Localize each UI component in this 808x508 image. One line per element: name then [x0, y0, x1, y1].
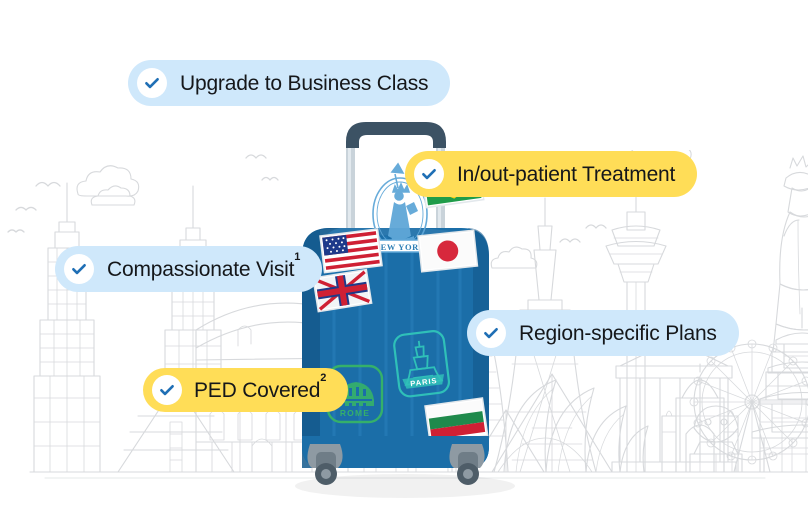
- badge-label-text: PED Covered: [194, 379, 320, 402]
- illustration-canvas: NEW YORK: [0, 0, 808, 508]
- svg-text:ROME: ROME: [340, 408, 370, 418]
- check-circle-icon: [64, 254, 94, 284]
- badge-label: Region-specific Plans: [519, 323, 717, 344]
- badge-label: PED Covered2: [194, 380, 326, 401]
- badge-compassionate-visit[interactable]: Compassionate Visit1: [55, 246, 322, 292]
- badge-label: In/out-patient Treatment: [457, 164, 675, 185]
- badge-label: Compassionate Visit1: [107, 259, 300, 280]
- badge-label-text: Compassionate Visit: [107, 258, 294, 281]
- badge-upgrade-to-business-class[interactable]: Upgrade to Business Class: [128, 60, 450, 106]
- check-circle-icon: [137, 68, 167, 98]
- badge-ped-covered[interactable]: PED Covered2: [143, 368, 348, 412]
- badge-region-specific-plans[interactable]: Region-specific Plans: [467, 310, 739, 356]
- check-circle-icon: [152, 375, 182, 405]
- badge-in-out-patient-treatment[interactable]: In/out-patient Treatment: [405, 151, 697, 197]
- check-circle-icon: [476, 318, 506, 348]
- badge-label: Upgrade to Business Class: [180, 73, 428, 94]
- badge-footnote-marker: 2: [320, 372, 326, 384]
- badge-footnote-marker: 1: [294, 251, 300, 263]
- check-circle-icon: [414, 159, 444, 189]
